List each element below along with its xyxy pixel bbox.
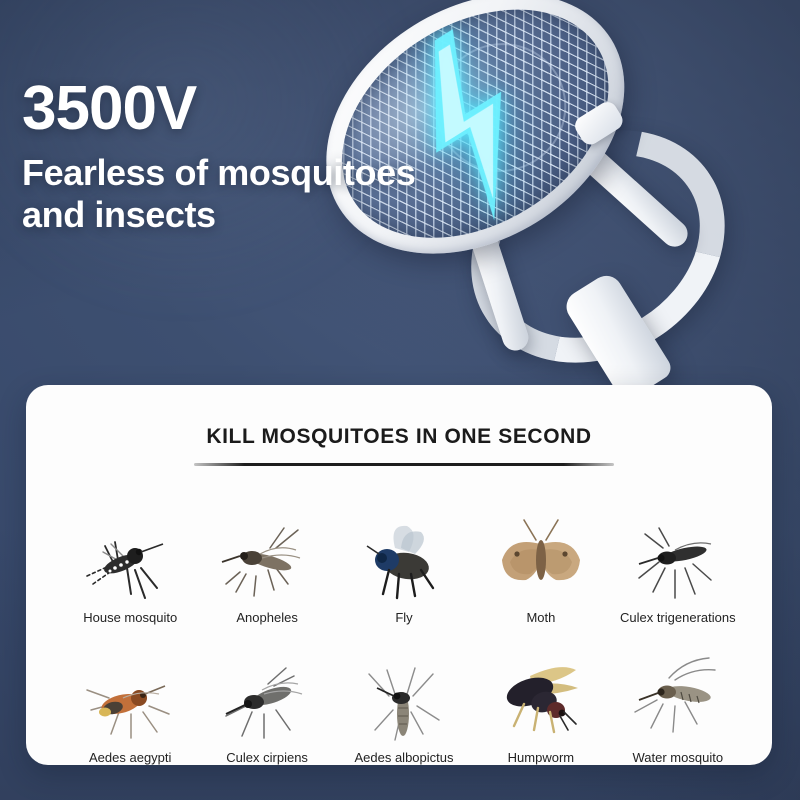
insect-cell-culex-cirpiens: Culex cirpiens [203, 625, 331, 765]
mosquito-culex-grey-icon [212, 658, 322, 746]
voltage-text: 3500V [22, 78, 492, 140]
subtitle-line-1: Fearless of mosquitoes [22, 152, 492, 194]
insect-label: Water mosquito [633, 750, 724, 765]
insect-cell-anopheles: Anopheles [203, 485, 331, 625]
mosquito-albopictus-icon [349, 658, 459, 746]
insect-label: Moth [526, 610, 555, 625]
headline-block: 3500V Fearless of mosquitoes and insects [22, 78, 492, 237]
hornet-icon [486, 650, 596, 738]
insect-cell-humpworm: Humpworm [477, 625, 605, 765]
insect-label: Culex cirpiens [226, 750, 308, 765]
mosquito-striped-icon [75, 518, 185, 606]
insect-grid: House mosquito [66, 485, 742, 765]
insect-cell-water-mosquito: Water mosquito [614, 625, 742, 765]
insect-label: Anopheles [236, 610, 297, 625]
insect-cell-culex-trigenerations: Culex trigenerations [614, 485, 742, 625]
title-divider [194, 463, 614, 466]
promo-image: 3500V Fearless of mosquitoes and insects… [0, 0, 800, 800]
insect-label: Fly [395, 610, 412, 625]
insect-cell-fly: Fly [340, 485, 468, 625]
insect-cell-aedes-albopictus: Aedes albopictus [340, 625, 468, 765]
mosquito-anopheles-icon [212, 518, 322, 606]
insect-label: Aedes albopictus [354, 750, 453, 765]
insect-cell-moth: Moth [477, 485, 605, 625]
insect-label: House mosquito [83, 610, 177, 625]
insect-row: House mosquito [66, 485, 742, 625]
insect-card: KILL MOSQUITOES IN ONE SECOND [26, 385, 772, 765]
mosquito-water-icon [623, 650, 733, 738]
moth-icon [486, 510, 596, 598]
subtitle-line-2: and insects [22, 194, 492, 236]
insect-row: Aedes aegypti C [66, 625, 742, 765]
insect-label: Humpworm [508, 750, 574, 765]
insect-label: Culex trigenerations [620, 610, 736, 625]
housefly-icon [349, 518, 459, 606]
mosquito-aedes-aegypti-icon [75, 658, 185, 746]
insect-cell-aedes-aegypti: Aedes aegypti [66, 625, 194, 765]
insect-cell-house-mosquito: House mosquito [66, 485, 194, 625]
insect-label: Aedes aegypti [89, 750, 171, 765]
card-title: KILL MOSQUITOES IN ONE SECOND [26, 425, 772, 449]
mosquito-culex-dark-icon [623, 518, 733, 606]
